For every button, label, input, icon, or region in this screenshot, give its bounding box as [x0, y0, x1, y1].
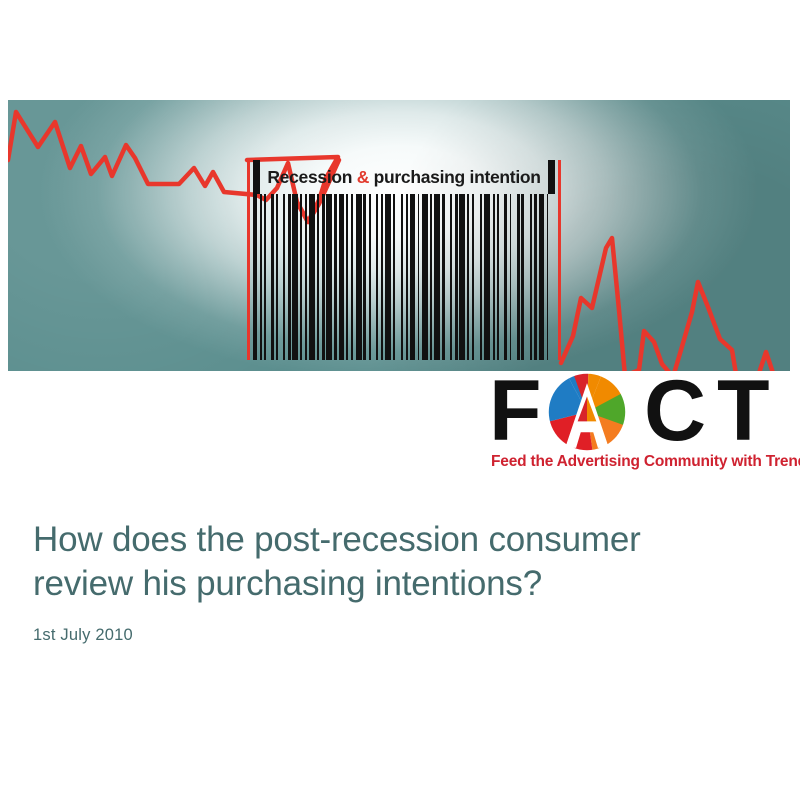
recession-banner: Recession & purchasing intention — [8, 100, 790, 371]
barcode-label: Recession & purchasing intention — [253, 160, 555, 194]
fact-logo-a-mark-icon — [548, 373, 626, 451]
barcode-bars — [253, 194, 555, 360]
fact-logo-letter-c: C — [644, 369, 704, 453]
barcode-label-ampersand: & — [357, 167, 369, 187]
barcode-gap — [548, 194, 554, 360]
fact-logo-tagline: Feed the Advertising Community with Tren… — [491, 453, 793, 471]
page-title: How does the post-recession consumer rev… — [33, 518, 763, 606]
barcode-rail-left — [247, 160, 250, 360]
fact-logo-letter-f: F — [489, 369, 540, 453]
fact-logo-letter-t: T — [717, 369, 768, 453]
barcode-rail-right — [558, 160, 561, 360]
fact-logo: F C T — [489, 369, 793, 479]
barcode-label-text: Recession & purchasing intention — [260, 160, 548, 194]
trend-line-right — [561, 238, 790, 371]
barcode-graphic: Recession & purchasing intention — [247, 160, 561, 360]
barcode-label-text-after: purchasing intention — [369, 167, 541, 187]
title-block: How does the post-recession consumer rev… — [33, 518, 763, 645]
fact-logo-wordmark: F C T — [489, 369, 793, 453]
barcode-cap-left — [253, 160, 260, 194]
barcode-cap-right — [548, 160, 555, 194]
page-date: 1st July 2010 — [33, 626, 763, 645]
barcode-label-text-before: Recession — [267, 167, 356, 187]
